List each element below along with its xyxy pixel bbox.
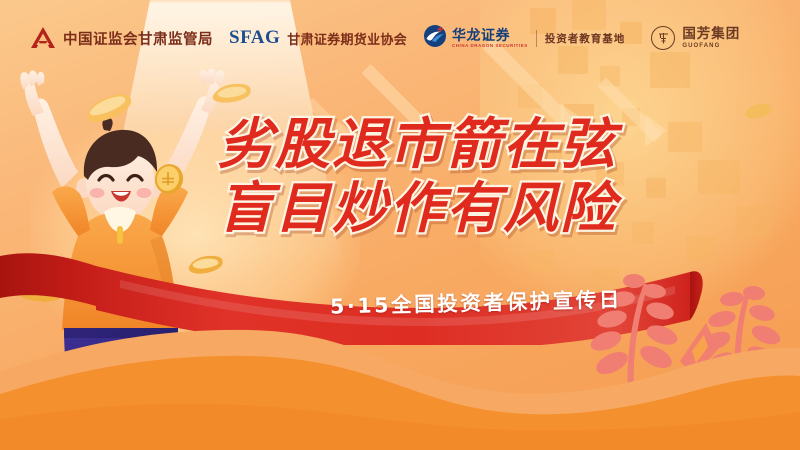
- hualong-cn-label: 华龙证券: [452, 28, 528, 42]
- sfag-abbr-label: SFAG: [229, 27, 280, 49]
- guofang-seal-icon: [651, 26, 675, 50]
- headline-line-2: 盲目炒作有风险: [218, 182, 617, 235]
- csrc-emblem-icon: [30, 26, 56, 50]
- guofang-en-label: GUOFANG: [682, 43, 740, 49]
- hualong-name-block: 华龙证券 CHINA DRAGON SECURITIES: [452, 28, 528, 48]
- guofang-cn-label: 国芳集团: [682, 27, 740, 41]
- headline-line-1: 劣股退市箭在弦: [218, 118, 617, 171]
- sponsor-logo-bar: 中国证监会甘肃监管局 SFAG 甘肃证券期货业协会 华龙证券 CHINA DRA…: [0, 0, 800, 76]
- gold-coin-icon: [152, 162, 186, 196]
- gold-ingot-icon: [742, 96, 776, 126]
- gold-ingot-icon: [80, 88, 140, 128]
- orange-wave-hills: [0, 310, 800, 450]
- hualong-en-label: CHINA DRAGON SECURITIES: [452, 44, 528, 48]
- logo-guofang-group: 国芳集团 GUOFANG: [651, 26, 740, 50]
- sfag-cn-label: 甘肃证券期货业协会: [287, 29, 407, 48]
- logo-divider: [536, 30, 537, 47]
- gold-ingot-icon: [210, 78, 254, 108]
- logo-csrc-gansu: 中国证监会甘肃监管局: [30, 26, 213, 50]
- investor-protection-poster: 中国证监会甘肃监管局 SFAG 甘肃证券期货业协会 华龙证券 CHINA DRA…: [0, 0, 800, 450]
- logo-csrc-label: 中国证监会甘肃监管局: [63, 28, 213, 49]
- headline-block: 劣股退市箭在弦 盲目炒作有风险: [218, 118, 617, 236]
- logo-sfag: SFAG 甘肃证券期货业协会: [229, 27, 407, 49]
- guofang-name-block: 国芳集团 GUOFANG: [682, 27, 740, 49]
- hualong-sub-label: 投资者教育基地: [545, 31, 626, 46]
- logo-hualong-securities: 华龙证券 CHINA DRAGON SECURITIES 投资者教育基地: [423, 24, 625, 53]
- china-dragon-wave-icon: [423, 24, 447, 53]
